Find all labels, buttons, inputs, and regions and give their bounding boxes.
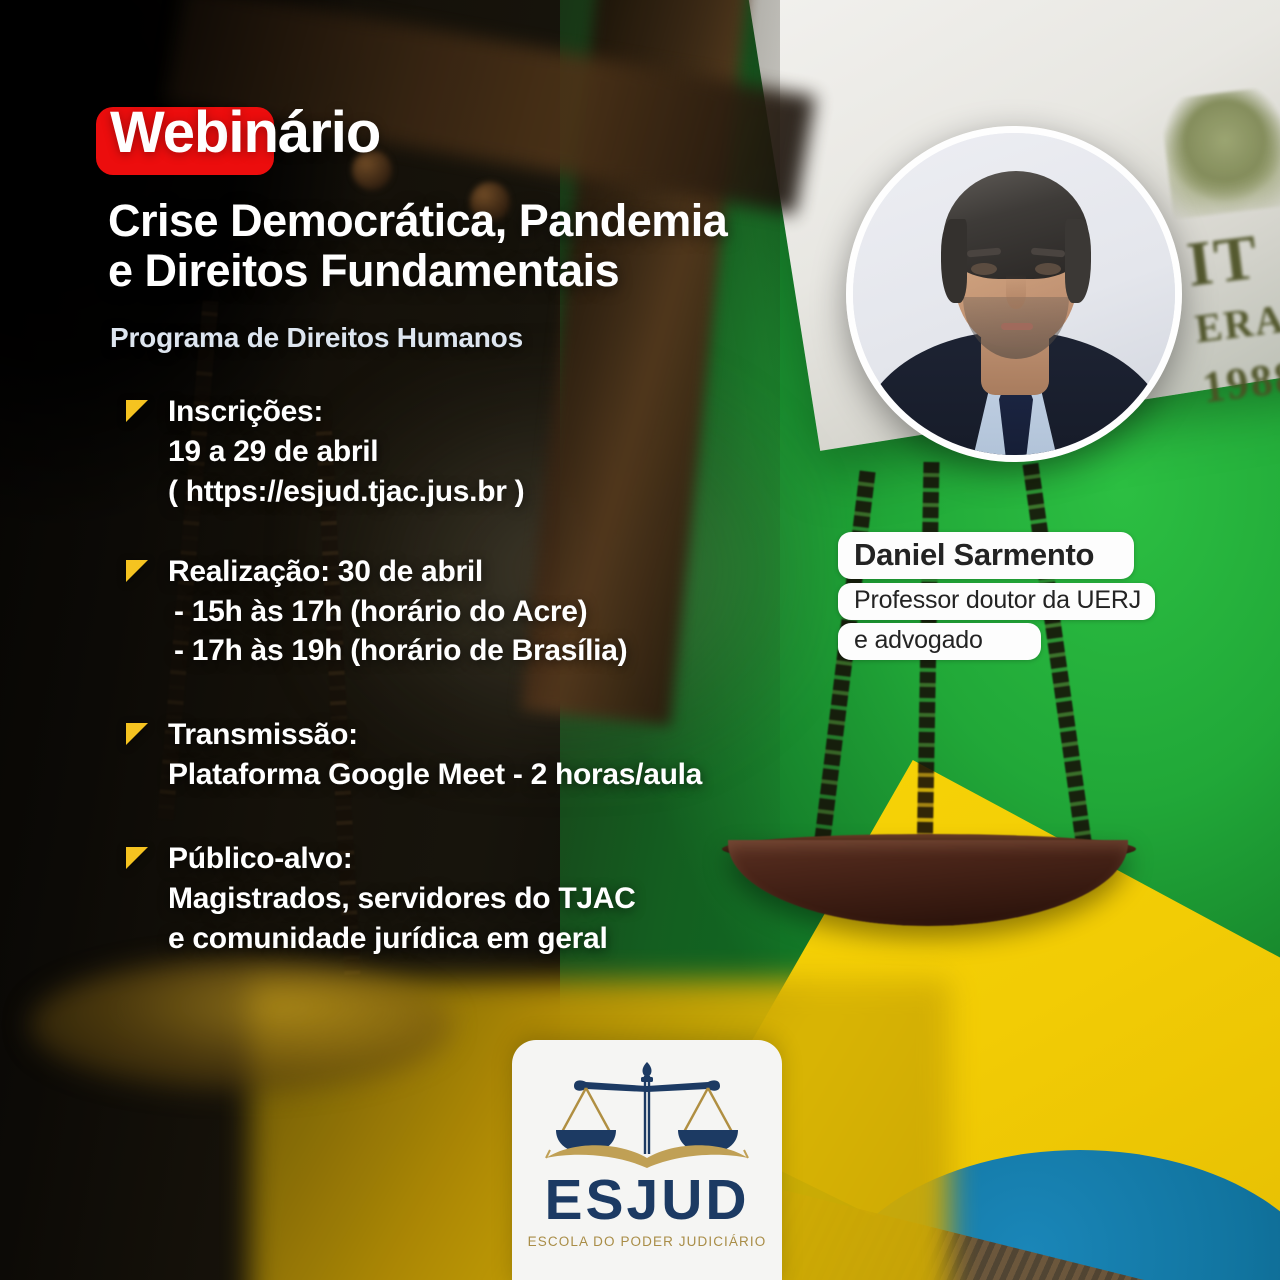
portrait-hair-side — [941, 219, 967, 303]
scales-of-justice-icon — [540, 1058, 754, 1174]
detail-line: - 17h às 19h (horário de Brasília) — [168, 631, 866, 671]
portrait-mouth — [1001, 323, 1033, 330]
triangle-bullet-icon — [126, 723, 148, 745]
speaker-info: Daniel Sarmento Professor doutor da UERJ… — [838, 532, 1155, 660]
detail-block-inscricoes: Inscrições: 19 a 29 de abril ( https://e… — [126, 392, 866, 512]
triangle-bullet-icon — [126, 560, 148, 582]
detail-line: 19 a 29 de abril — [168, 432, 866, 472]
speaker-name: Daniel Sarmento — [838, 532, 1134, 579]
esjud-wordmark: ESJUD — [544, 1172, 749, 1229]
detail-line: - 15h às 17h (horário do Acre) — [168, 592, 866, 632]
detail-line: Magistrados, servidores do TJAC — [168, 879, 866, 919]
esjud-tagline: ESCOLA DO PODER JUDICIÁRIO — [528, 1234, 767, 1249]
webinar-poster: IT ERA 1988 Webinário — [0, 0, 1280, 1280]
speaker-avatar — [846, 126, 1182, 462]
webinario-badge: Webinário — [110, 96, 380, 170]
detail-line: Plataforma Google Meet - 2 horas/aula — [168, 755, 866, 795]
triangle-bullet-icon — [126, 400, 148, 422]
speaker-role-line-1: Professor doutor da UERJ — [838, 583, 1155, 620]
page-title: Crise Democrática, Pandemia e Direitos F… — [108, 196, 848, 297]
webinario-label: Webinário — [110, 104, 380, 162]
page-subtitle: Programa de Direitos Humanos — [110, 322, 523, 354]
title-line-2: e Direitos Fundamentais — [108, 246, 848, 296]
detail-block-publico-alvo: Público-alvo: Magistrados, servidores do… — [126, 839, 866, 959]
title-line-1: Crise Democrática, Pandemia — [108, 196, 848, 246]
detail-heading: Inscrições: — [168, 392, 866, 432]
detail-heading: Realização: 30 de abril — [168, 552, 866, 592]
detail-heading: Transmissão: — [168, 715, 866, 755]
portrait-eye — [971, 263, 997, 275]
registration-url[interactable]: ( https://esjud.tjac.jus.br ) — [168, 472, 866, 512]
portrait-hair-side — [1065, 219, 1091, 303]
detail-block-transmissao: Transmissão: Plataforma Google Meet - 2 … — [126, 715, 866, 795]
detail-line: e comunidade jurídica em geral — [168, 919, 866, 959]
portrait-nose — [1006, 275, 1026, 309]
details-list: Inscrições: 19 a 29 de abril ( https://e… — [126, 392, 866, 987]
detail-block-realizacao: Realização: 30 de abril - 15h às 17h (ho… — [126, 552, 866, 672]
triangle-bullet-icon — [126, 847, 148, 869]
speaker-role-line-2: e advogado — [838, 623, 1041, 660]
poster-content: Webinário Crise Democrática, Pandemia e … — [0, 0, 1280, 1280]
webinario-highlight-text: Web — [110, 100, 228, 165]
portrait-eye — [1035, 263, 1061, 275]
webinario-rest-text: inário — [228, 100, 380, 165]
detail-heading: Público-alvo: — [168, 839, 866, 879]
esjud-logo-card: ESJUD ESCOLA DO PODER JUDICIÁRIO — [512, 1040, 782, 1280]
